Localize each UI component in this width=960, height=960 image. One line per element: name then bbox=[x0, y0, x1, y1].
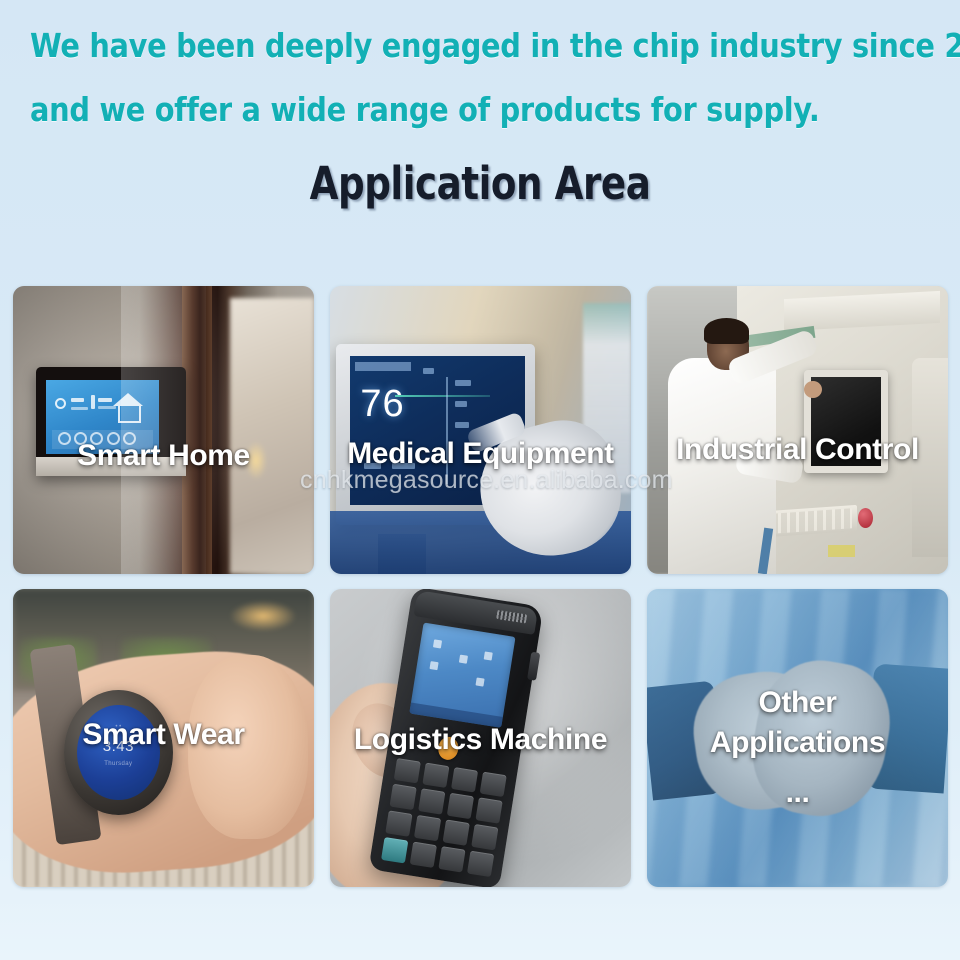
monitor-readout-3 bbox=[455, 422, 469, 428]
machine-top-housing bbox=[784, 291, 940, 331]
card-label-other-applications-line3: ... bbox=[647, 777, 948, 809]
home-icon bbox=[111, 393, 145, 425]
keypad-key bbox=[414, 815, 441, 841]
section-title: Application Area bbox=[38, 158, 921, 210]
watch-date: Thursday bbox=[77, 761, 159, 767]
desktop-icon-4 bbox=[484, 651, 493, 660]
keypad-key bbox=[467, 850, 494, 876]
keyboard-keys bbox=[773, 508, 852, 533]
keypad-key bbox=[475, 798, 502, 824]
keypad-key bbox=[438, 846, 465, 872]
card-industrial-control[interactable]: Industrial Control bbox=[647, 286, 948, 574]
keypad-key bbox=[442, 819, 469, 845]
ecg-waveform bbox=[395, 395, 489, 397]
background-room bbox=[230, 298, 314, 574]
card-label-smart-home: Smart Home bbox=[13, 440, 314, 472]
keypad-key bbox=[471, 824, 498, 850]
terminal-screen bbox=[409, 623, 515, 728]
card-logistics-machine[interactable]: Logistics Machine bbox=[330, 589, 631, 887]
keypad-key bbox=[418, 789, 445, 815]
keypad-key bbox=[389, 784, 416, 810]
temperature-caption bbox=[71, 407, 88, 410]
card-label-smart-wear: Smart Wear bbox=[13, 719, 314, 751]
smartwatch: • • 3:43 Thursday bbox=[64, 690, 172, 815]
keypad-key bbox=[447, 793, 474, 819]
application-area-grid: Smart Home 76 Medical Equipment bbox=[13, 286, 948, 887]
technician-hand bbox=[804, 381, 822, 398]
temperature-widget bbox=[71, 398, 84, 402]
desktop-icon-1 bbox=[433, 639, 442, 648]
clock-digit bbox=[91, 395, 95, 409]
headline-line-1: We have been deeply engaged in the chip … bbox=[30, 22, 905, 70]
door-frame bbox=[182, 286, 212, 574]
keypad-key bbox=[410, 841, 437, 867]
monitor-readout-2 bbox=[455, 401, 467, 407]
card-medical-equipment[interactable]: 76 Medical Equipment bbox=[330, 286, 631, 574]
monitor-status-bar bbox=[355, 362, 411, 371]
card-label-other-applications-line1: Other bbox=[647, 687, 948, 719]
card-label-logistics-machine: Logistics Machine bbox=[330, 724, 631, 756]
card-label-other-applications-line2: Applications bbox=[647, 727, 948, 759]
monitor-readout-6 bbox=[423, 368, 433, 374]
headline-line-2: and we offer a wide range of products fo… bbox=[30, 86, 905, 134]
date-caption bbox=[98, 406, 116, 409]
desktop-icon-2 bbox=[430, 661, 439, 670]
date-widget bbox=[98, 398, 112, 402]
warning-label bbox=[828, 545, 855, 557]
monitor-heart-rate-value: 76 bbox=[360, 383, 404, 426]
headline-block: We have been deeply engaged in the chip … bbox=[0, 0, 960, 134]
card-label-industrial-control: Industrial Control bbox=[647, 434, 948, 466]
monitor-readout-1 bbox=[455, 380, 471, 386]
card-label-medical-equipment: Medical Equipment bbox=[330, 438, 631, 470]
desktop-icon-5 bbox=[476, 678, 485, 687]
keypad-key bbox=[393, 758, 420, 784]
emergency-stop-button bbox=[858, 508, 873, 528]
terminal-keypad bbox=[381, 758, 507, 877]
keypad-key bbox=[480, 771, 507, 797]
keypad-key-function bbox=[381, 837, 408, 863]
keypad-key bbox=[451, 767, 478, 793]
technician-hair bbox=[704, 318, 749, 344]
keypad-key bbox=[422, 762, 449, 788]
background-light bbox=[230, 601, 296, 631]
card-smart-home[interactable]: Smart Home bbox=[13, 286, 314, 574]
desktop-icon-3 bbox=[459, 654, 468, 663]
card-other-applications[interactable]: Other Applications ... bbox=[647, 589, 948, 887]
keypad-key bbox=[385, 810, 412, 836]
card-smart-wear[interactable]: • • 3:43 Thursday Smart Wear bbox=[13, 589, 314, 887]
weather-sun-icon bbox=[55, 398, 66, 409]
